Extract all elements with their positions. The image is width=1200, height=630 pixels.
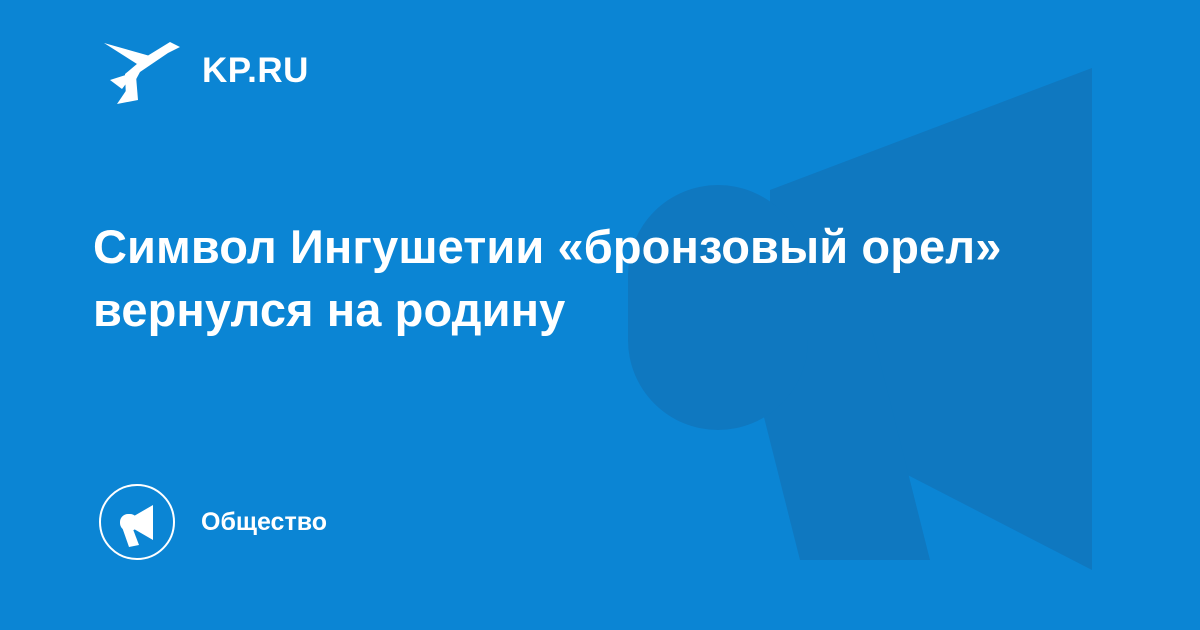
megaphone-icon bbox=[98, 483, 176, 561]
social-share-card: KP.RU Символ Ингушетии «бронзовый орел» … bbox=[0, 0, 1200, 630]
category-badge[interactable]: Общество bbox=[98, 483, 327, 561]
brand-name: KP.RU bbox=[202, 53, 309, 88]
swallow-bird-logo-icon bbox=[104, 34, 180, 106]
page-title: Символ Ингушетии «бронзовый орел» вернул… bbox=[93, 216, 1043, 341]
category-label: Общество bbox=[201, 510, 327, 535]
site-logo[interactable]: KP.RU bbox=[104, 33, 309, 107]
